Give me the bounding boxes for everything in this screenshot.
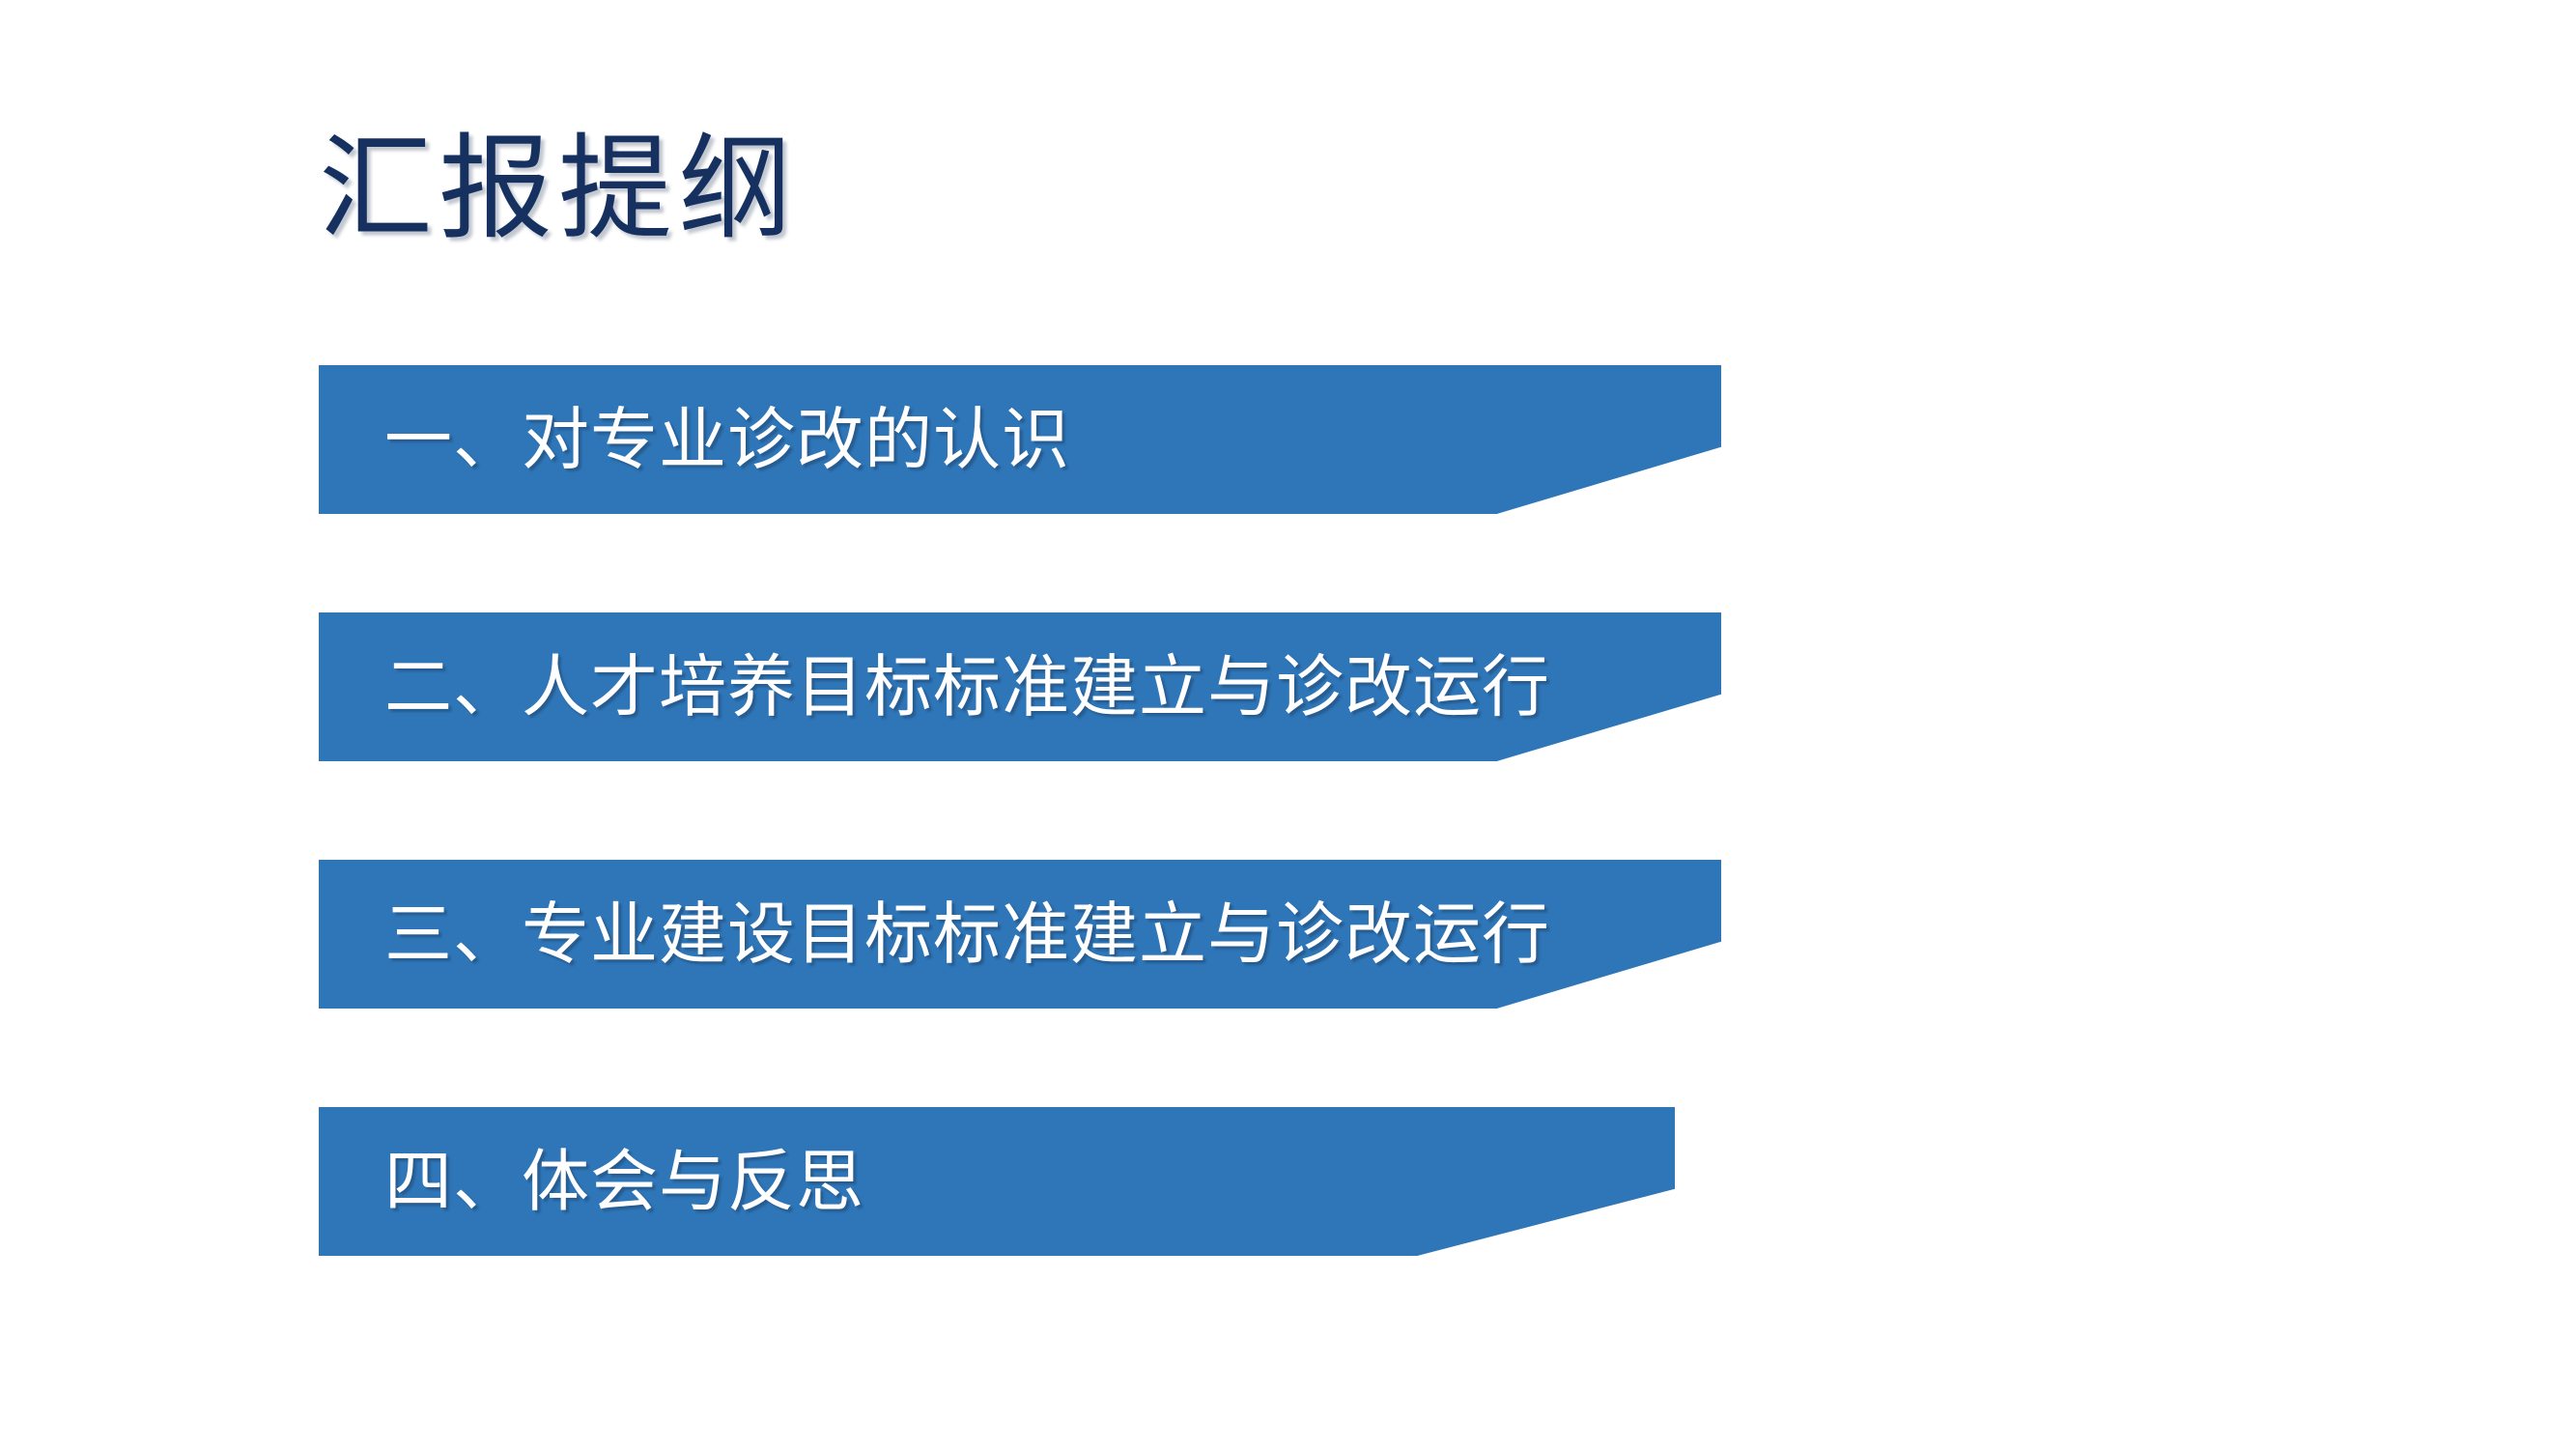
- outline-item-4[interactable]: 四、体会与反思: [319, 1107, 1675, 1256]
- outline-list: 一、对专业诊改的认识 二、人才培养目标标准建立与诊改运行 三、专业建设目标标准建…: [0, 0, 2576, 1450]
- outline-item-label: 二、人才培养目标标准建立与诊改运行: [384, 653, 1550, 721]
- outline-item-label: 一、对专业诊改的认识: [384, 406, 1070, 473]
- outline-item-3[interactable]: 三、专业建设目标标准建立与诊改运行: [319, 860, 1721, 1009]
- outline-item-label: 三、专业建设目标标准建立与诊改运行: [384, 900, 1550, 968]
- outline-item-1[interactable]: 一、对专业诊改的认识: [319, 365, 1721, 514]
- outline-item-label: 四、体会与反思: [384, 1148, 864, 1215]
- presentation-slide: 汇报提纲 一、对专业诊改的认识 二、人才培养目标标准建立与诊改运行 三、专业建设…: [0, 0, 2576, 1450]
- outline-item-2[interactable]: 二、人才培养目标标准建立与诊改运行: [319, 612, 1721, 761]
